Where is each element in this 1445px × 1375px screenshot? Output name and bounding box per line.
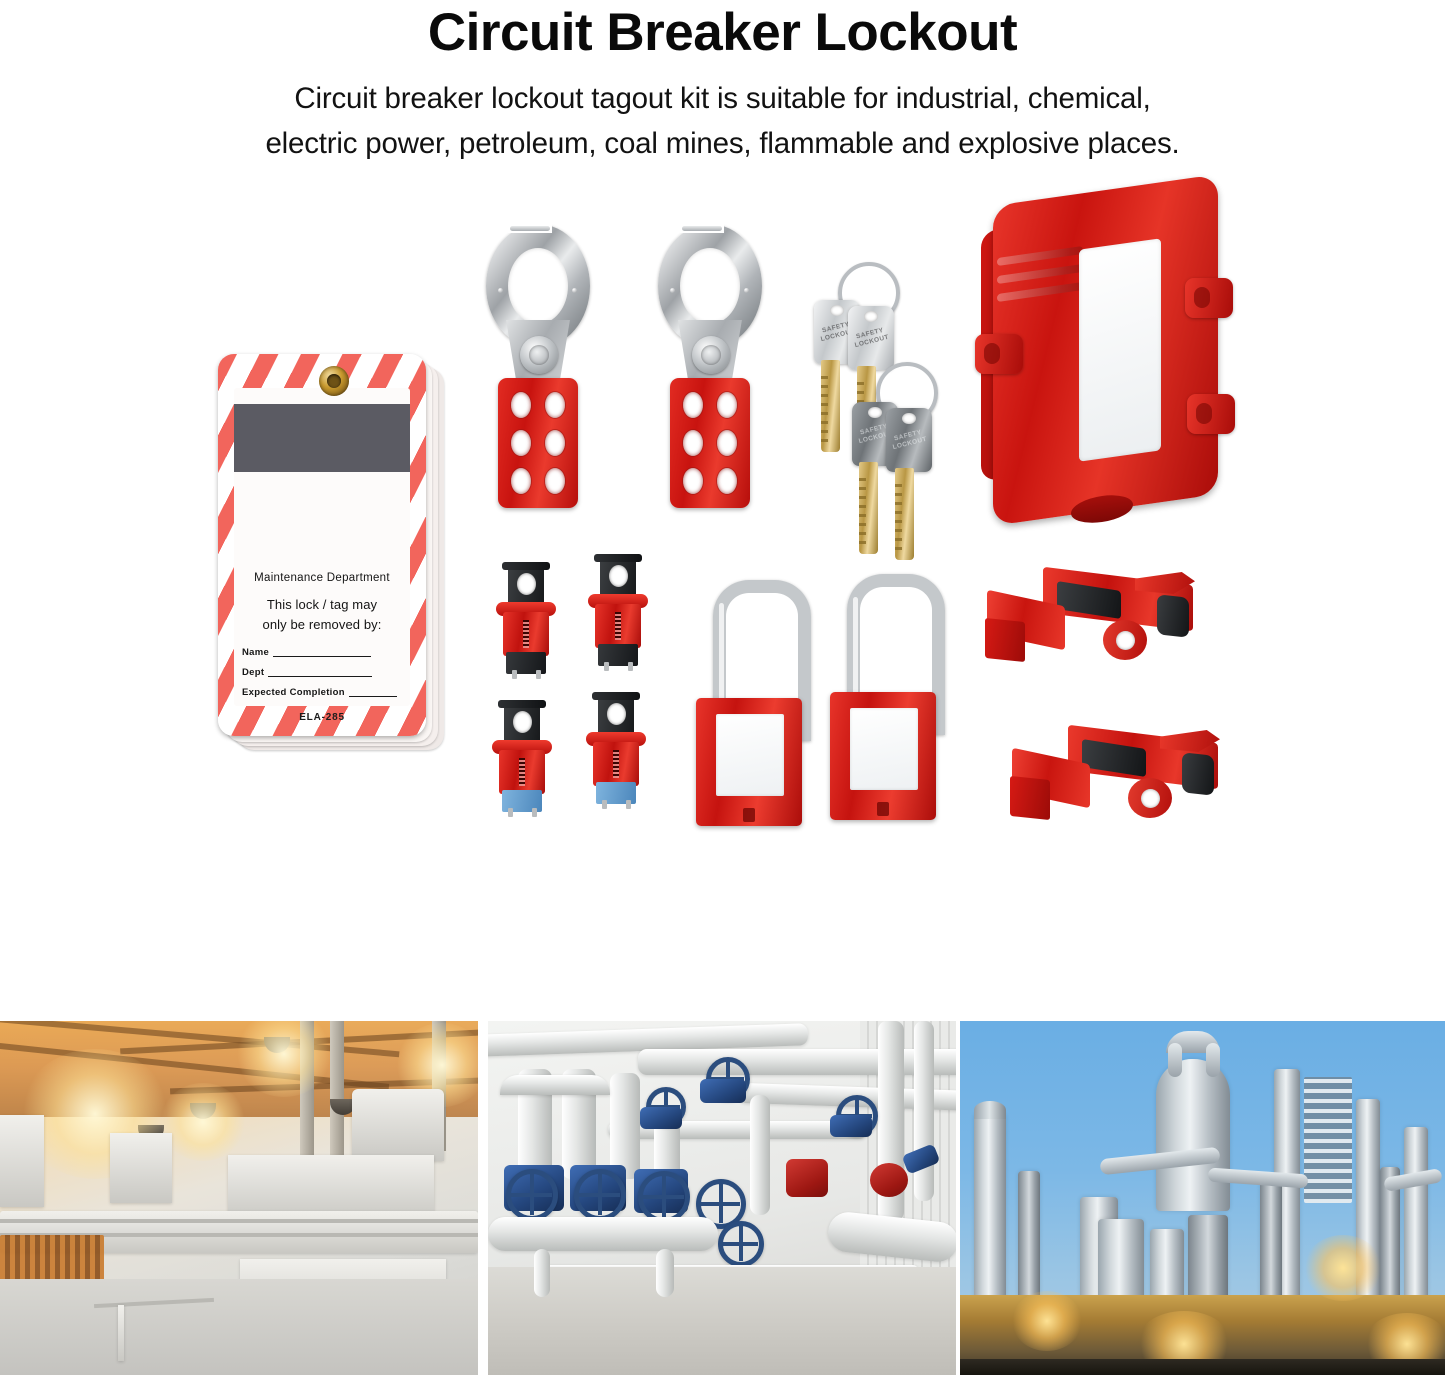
tag-department-label: Maintenance Department [236, 572, 408, 584]
photo-refinery [960, 1021, 1445, 1375]
hasp-rivet [572, 288, 577, 293]
mbl-prong [628, 662, 633, 671]
key-blade [821, 360, 840, 452]
valve-wheel [638, 1171, 690, 1223]
pipework-scene [488, 1021, 956, 1375]
mbl-body [503, 612, 549, 656]
hasp-rivet [744, 288, 749, 293]
mbl-prong [512, 670, 517, 679]
hasp-red-body [670, 378, 750, 508]
tag-field-name: Name [242, 647, 404, 658]
tag-warning-line-2: only be removed by: [236, 617, 408, 632]
hasp-hole [511, 468, 531, 494]
box-latch-right-bottom [1187, 394, 1235, 434]
hasp-hole [717, 392, 737, 418]
valve-body [700, 1079, 746, 1103]
keys-bundle: SAFETYLOCKOUT SAFETYLOCKOUT SAFETYLOCKOU… [800, 262, 960, 532]
safety-tag-stack: Maintenance Department This lock / tag m… [214, 354, 454, 754]
photo-factory-interior [0, 1021, 478, 1375]
valve-wheel [718, 1221, 764, 1267]
pipe-support [534, 1249, 550, 1297]
subtitle-line-2: electric power, petroleum, coal mines, f… [0, 121, 1445, 166]
application-photo-strip [0, 1021, 1445, 1375]
clamp-lock-eyelet [1128, 778, 1172, 818]
hasp-pivot-icon [520, 336, 558, 374]
lockout-hasp-right [650, 220, 770, 520]
box-latch-left [975, 334, 1023, 374]
hasp-hole [545, 430, 565, 456]
hasp-rivet [670, 288, 675, 293]
factory-cabinet [0, 1115, 44, 1207]
cooling-tower-lattice [1304, 1077, 1352, 1203]
key-engraving: SAFETYLOCKOUT [851, 326, 892, 351]
red-actuator [870, 1163, 908, 1197]
valve-body [640, 1107, 682, 1129]
hasp-hole [511, 392, 531, 418]
key-blade [895, 468, 914, 560]
page-title: Circuit Breaker Lockout [0, 2, 1445, 63]
vessel-pipe [1168, 1043, 1182, 1077]
tag-warning-line-1: This lock / tag may [236, 597, 408, 612]
page-subtitle: Circuit breaker lockout tagout kit is su… [0, 76, 1445, 166]
box-latch-right-top [1185, 278, 1233, 318]
hasp-hole [717, 468, 737, 494]
factory-column [330, 1021, 344, 1171]
mini-breaker-lockout-1 [494, 562, 558, 674]
factory-floor [0, 1279, 478, 1375]
hasp-hole [511, 430, 531, 456]
mbl-body [499, 750, 545, 794]
clamp-arm-lower [985, 618, 1025, 662]
clamp-arm-lower [1010, 776, 1050, 820]
hasp-hole [683, 468, 703, 494]
padlock-label-panel [716, 714, 784, 796]
valve-body [830, 1115, 872, 1137]
pipe [638, 1049, 956, 1075]
plant-floor [488, 1267, 956, 1375]
factory-scene [0, 1021, 478, 1375]
mini-breaker-lockout-2 [586, 554, 650, 666]
red-actuator [786, 1159, 828, 1197]
mbl-ear [592, 692, 640, 700]
hasp-rivet [498, 288, 503, 293]
padlock-body [696, 698, 802, 826]
safety-padlock-left [696, 580, 802, 830]
padlock-keyway [877, 802, 889, 816]
perimeter-fence [960, 1359, 1445, 1375]
mini-breaker-lockout-4 [584, 692, 648, 804]
tag-grommet-icon [319, 366, 349, 396]
key-blade [859, 462, 878, 554]
pipe-vertical [610, 1073, 640, 1179]
tag-dark-band [234, 404, 410, 472]
mbl-prong [536, 670, 541, 679]
mbl-screw-slot [615, 612, 621, 640]
hasp-red-body [498, 378, 578, 508]
mbl-prong [508, 808, 513, 817]
plant-light [1012, 1291, 1082, 1351]
key-head: SAFETYLOCKOUT [886, 408, 932, 472]
hasp-hole [545, 392, 565, 418]
mbl-ear [594, 554, 642, 562]
valve-wheel [574, 1169, 626, 1221]
header-banner: Circuit Breaker Lockout Circuit breaker … [0, 0, 1445, 175]
subtitle-line-1: Circuit breaker lockout tagout kit is su… [0, 76, 1445, 121]
safety-padlock-right [830, 574, 936, 824]
pipe-vertical [750, 1095, 770, 1215]
tag-front-face: Maintenance Department This lock / tag m… [218, 354, 426, 736]
tag-part-code: ELA-285 [236, 712, 408, 723]
conveyor-rail [0, 1219, 478, 1223]
clamp-on-breaker-lockout-top [985, 572, 1200, 690]
hasp-hole [683, 430, 703, 456]
padlock-label-panel [850, 708, 918, 790]
pipe-vertical [914, 1021, 934, 1201]
hasp-opening [508, 220, 552, 233]
mbl-ear [498, 700, 546, 708]
hasp-opening [680, 220, 724, 233]
mini-breaker-lockout-3 [490, 700, 554, 812]
plant-light [1304, 1235, 1382, 1301]
mbl-prong [532, 808, 537, 817]
pipe-header [488, 1217, 718, 1251]
clamp-knob [1157, 594, 1189, 637]
factory-cabinet [110, 1133, 172, 1203]
clamp-lock-eyelet [1103, 620, 1147, 660]
mbl-prong [602, 800, 607, 809]
lamp-glow [160, 1083, 246, 1161]
hasp-hole [545, 468, 565, 494]
pipe-elbow [500, 1075, 610, 1095]
mbl-prong [604, 662, 609, 671]
key-head: SAFETYLOCKOUT [848, 306, 894, 370]
factory-tank [352, 1089, 444, 1161]
vessel-pipe [1206, 1043, 1220, 1077]
column-cap [974, 1101, 1006, 1119]
reactor-vessel [1156, 1059, 1230, 1211]
mbl-body [593, 742, 639, 786]
tag-field-dept: Dept [242, 667, 404, 678]
box-label-panel [1079, 238, 1161, 462]
pipe-support [656, 1249, 674, 1297]
valve-wheel [506, 1169, 558, 1221]
clamp-knob [1182, 752, 1214, 795]
hasp-pivot-icon [692, 336, 730, 374]
mbl-screw-slot [523, 620, 529, 648]
mbl-body [595, 604, 641, 648]
key-engraving: SAFETYLOCKOUT [889, 428, 930, 453]
lockout-hasp-left [478, 220, 598, 520]
hasp-hole [717, 430, 737, 456]
clamp-on-breaker-lockout-bottom [1010, 730, 1225, 848]
hasp-hole [683, 392, 703, 418]
mbl-prong [626, 800, 631, 809]
padlock-body [830, 692, 936, 820]
plug-lockout-box [975, 182, 1240, 532]
mbl-screw-slot [613, 750, 619, 778]
mbl-screw-slot [519, 758, 525, 786]
photo-pipes-valves [488, 1021, 956, 1375]
tag-field-completion: Expected Completion [242, 687, 404, 698]
product-showcase: Maintenance Department This lock / tag m… [0, 172, 1445, 1022]
mbl-ear [502, 562, 550, 570]
padlock-keyway [743, 808, 755, 822]
cart-stand [118, 1305, 124, 1361]
refinery-scene [960, 1021, 1445, 1375]
